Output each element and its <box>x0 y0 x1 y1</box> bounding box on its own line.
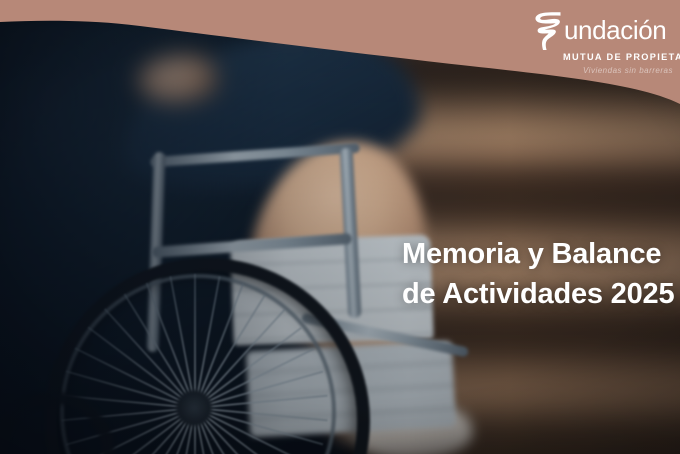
page-title: Memoria y Balance de Actividades 2025 <box>402 234 678 314</box>
page-title-line-1: Memoria y Balance <box>402 234 678 274</box>
cover-page: undación MUTUA DE PROPIETARIOS Viviendas… <box>0 0 680 454</box>
logo-f-icon <box>533 11 563 51</box>
logo-tagline: Viviendas sin barreras <box>533 66 673 75</box>
page-title-line-2: de Actividades 2025 <box>402 274 678 314</box>
wheelchair-wheel-hub <box>176 390 212 426</box>
logo-subtitle: MUTUA DE PROPIETARIOS <box>563 52 673 62</box>
logo: undación MUTUA DE PROPIETARIOS Viviendas… <box>533 11 673 75</box>
logo-wordmark: undación <box>564 15 666 45</box>
wheel-spoke <box>194 274 196 408</box>
